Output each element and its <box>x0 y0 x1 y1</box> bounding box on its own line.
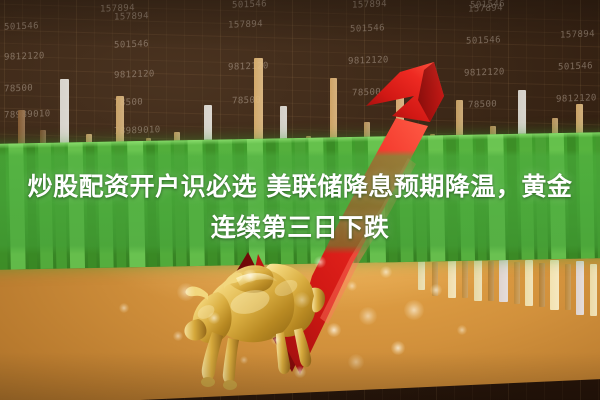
bull-hind-leg-1 <box>276 332 290 374</box>
floor-bar <box>499 258 508 302</box>
headline-line-2: 连续第三日下跌 <box>0 207 600 248</box>
floor-bar <box>488 261 494 301</box>
bull-front-leg-2 <box>223 338 239 384</box>
floor-bar <box>576 261 584 315</box>
floor-bar <box>539 263 545 307</box>
floor-bar <box>565 264 571 310</box>
floor-bar <box>590 264 597 316</box>
floor-bar <box>432 262 438 296</box>
news-banner: 1578945015469812120785007898901015789450… <box>0 0 600 400</box>
bull-hoof-1 <box>201 377 215 387</box>
floor-bar <box>550 260 559 310</box>
floor-bar <box>448 258 456 298</box>
bull-tail <box>312 288 325 313</box>
headline-text: 炒股配资开户识必选 美联储降息预期降温，黄金 连续第三日下跌 <box>0 166 600 248</box>
golden-bull-statue <box>178 240 328 390</box>
floor-bar <box>525 260 533 306</box>
floor-bar <box>462 260 468 298</box>
floor-bar <box>514 262 520 304</box>
bull-horn-left <box>185 287 208 300</box>
headline-line-1: 炒股配资开户识必选 美联储降息预期降温，黄金 <box>0 166 600 207</box>
floor-bar <box>474 259 482 301</box>
bull-hind-leg-2 <box>294 328 311 367</box>
bull-hoof-2 <box>223 380 237 390</box>
floor-bar <box>418 260 425 290</box>
